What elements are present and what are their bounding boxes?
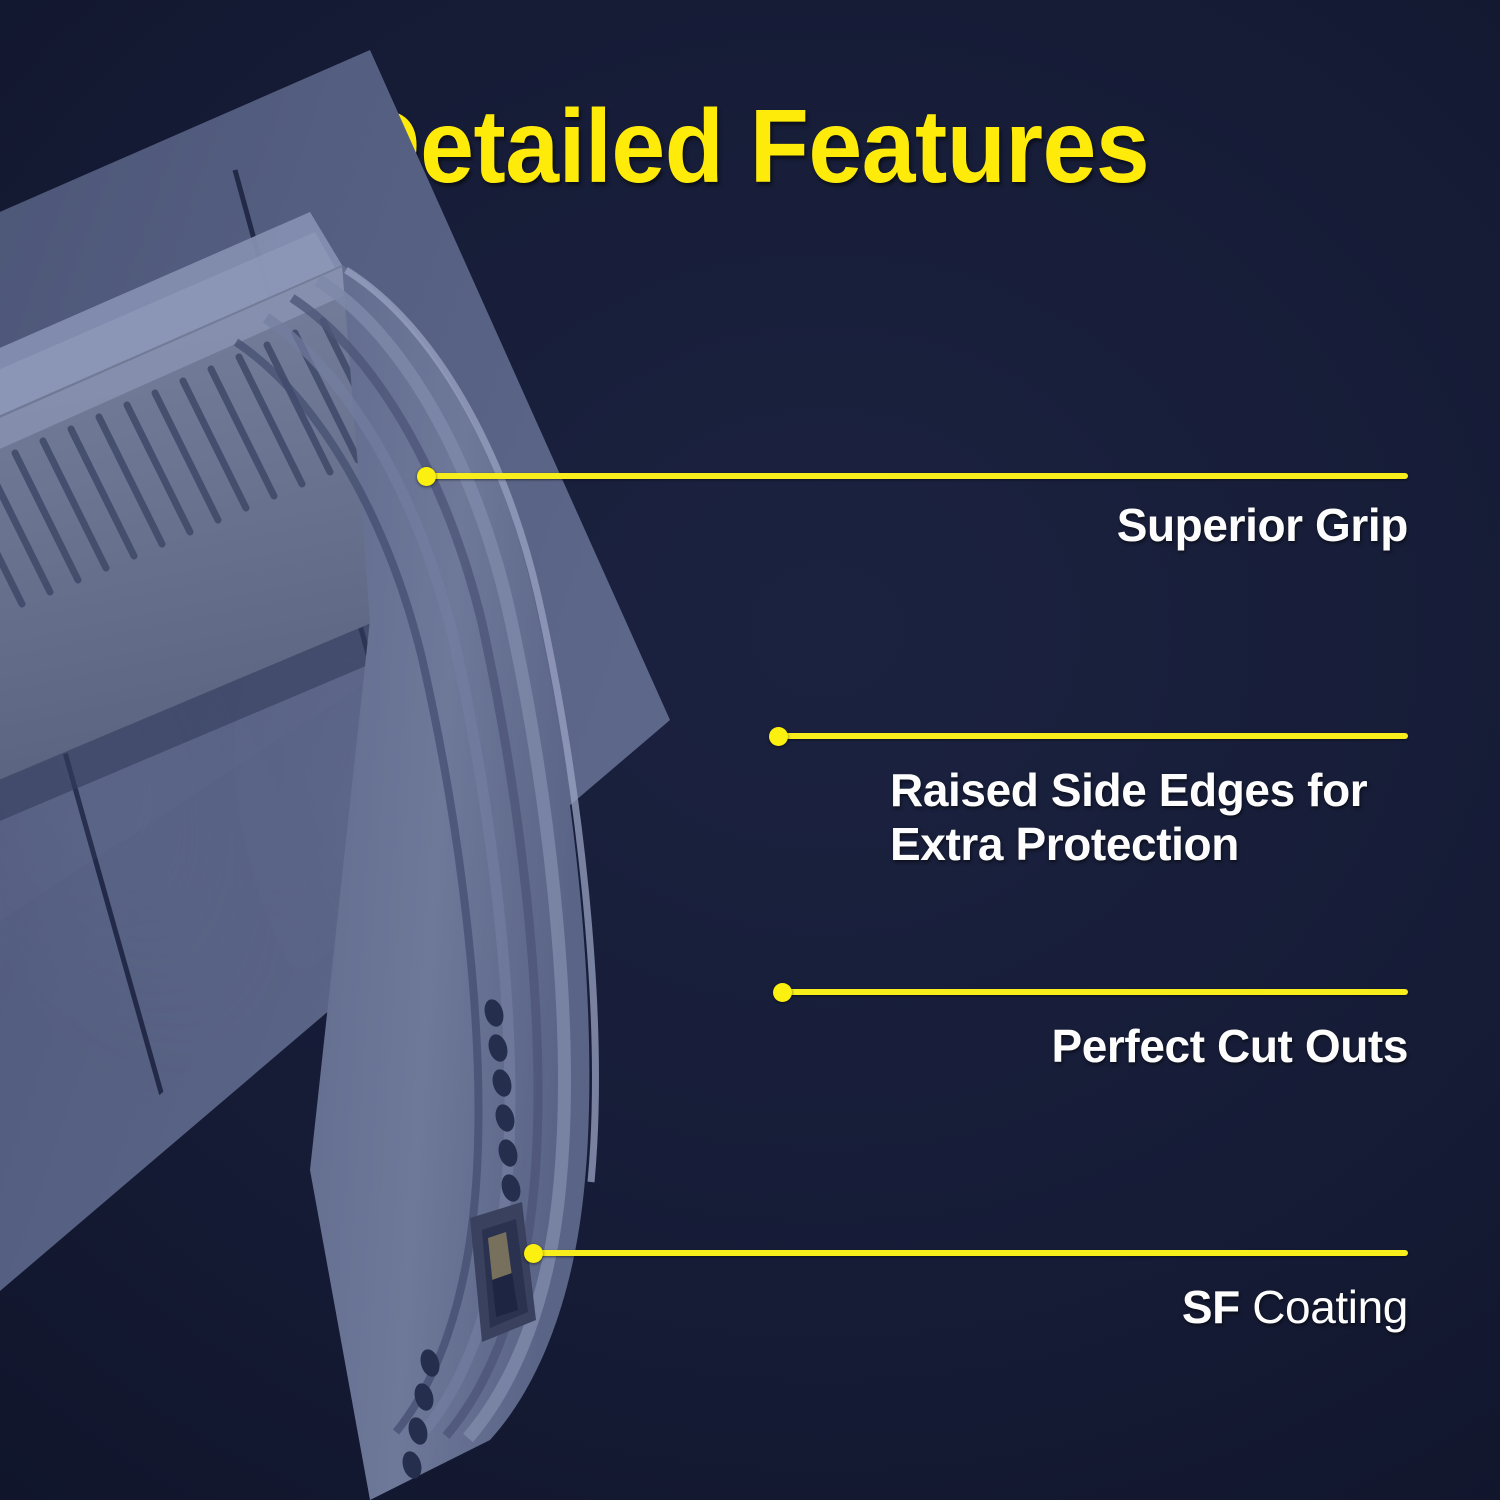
leader-line-sf-coating: [533, 1250, 1408, 1256]
case-bottom-corner: [0, 1205, 430, 1500]
label-raised-side-edges-line1: Raised Side Edges for: [890, 763, 1450, 817]
leader-line-superior-grip: [426, 473, 1408, 479]
label-superior-grip: Superior Grip: [700, 498, 1408, 552]
label-raised-side-edges: Raised Side Edges for Extra Protection: [890, 763, 1450, 872]
product-feature-image: Detailed Features: [0, 0, 1500, 1500]
label-raised-side-edges-line2: Extra Protection: [890, 817, 1450, 871]
leader-line-perfect-cut-outs: [782, 989, 1408, 995]
label-sf-coating: SF Coating: [700, 1280, 1408, 1334]
label-perfect-cut-outs: Perfect Cut Outs: [700, 1019, 1408, 1073]
label-sf-coating-strong: SF: [1182, 1281, 1240, 1333]
label-sf-coating-rest: Coating: [1240, 1281, 1408, 1333]
leader-line-raised-side-edges: [778, 733, 1408, 739]
